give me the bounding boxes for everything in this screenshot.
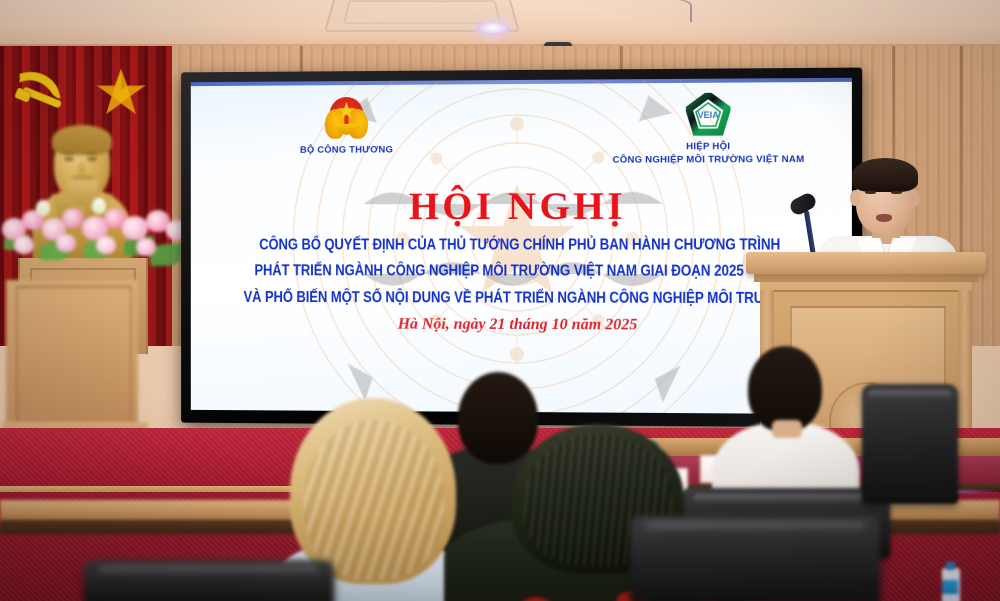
ceiling-wires [520,0,692,22]
chair-back [630,516,880,601]
veia-logo-block: VEIA HIỆP HỘI CÔNG NGHIỆP MÔI TRƯỜNG VIỆ… [592,92,825,166]
water-bottle [942,560,958,601]
slide-line-3: VÀ PHỔ BIẾN MỘT SỐ NỘI DUNG VỀ PHÁT TRIỂ… [191,282,852,314]
left-wooden-stand [6,280,138,448]
veia-caption-line1: HIỆP HỘI [592,141,825,154]
gold-star-icon [96,68,146,116]
slide-title: HỘI NGHỊ [191,183,852,229]
downlight-icon [476,22,510,35]
conference-photo: BỘ CÔNG THƯƠNG [0,0,1000,601]
hammer-and-sickle-icon [14,64,76,118]
chair-back [84,560,334,601]
vietnam-national-emblem-icon [324,95,369,141]
slide-date: Hà Nội, ngày 21 tháng 10 năm 2025 [191,315,852,335]
veia-pentagon-icon: VEIA [686,93,731,138]
svg-text:VEIA: VEIA [698,110,720,120]
microphone-icon [790,196,850,256]
moit-logo-block: BỘ CÔNG THƯƠNG [283,95,411,157]
veia-caption-line2: CÔNG NGHIỆP MÔI TRƯỜNG VIỆT NAM [592,153,825,165]
chair-back [862,384,958,504]
moit-caption: BỘ CÔNG THƯƠNG [283,144,411,156]
flower-arrangement [0,196,188,272]
